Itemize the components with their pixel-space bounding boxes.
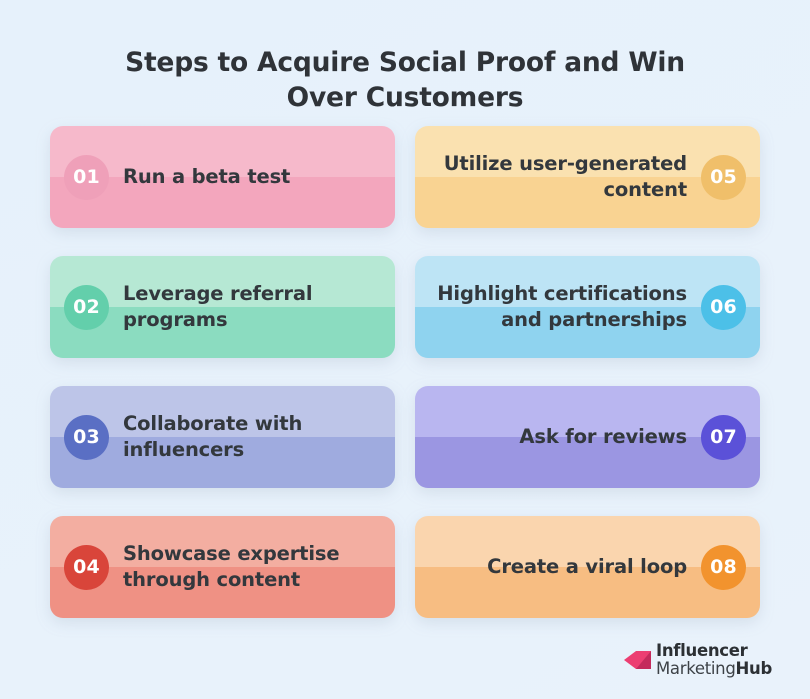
step-card-04[interactable]: 04 Showcase expertise through content [50,516,395,618]
brand-logo-hub: Hub [736,659,772,678]
step-label-07: Ask for reviews [519,424,687,450]
brand-logo-line-1: Influencer [656,642,772,659]
step-number-badge-06: 06 [701,285,746,330]
step-card-08[interactable]: Create a viral loop 08 [415,516,760,618]
step-number-badge-04: 04 [64,545,109,590]
brand-logo-line-2: MarketingHub [656,660,772,677]
step-label-02: Leverage referral programs [123,281,377,332]
step-label-06: Highlight certifications and partnership… [433,281,687,332]
step-number-badge-05: 05 [701,155,746,200]
step-label-08: Create a viral loop [487,554,687,580]
pink-arrow-mark-icon [622,645,652,675]
step-number-badge-01: 01 [64,155,109,200]
step-label-03: Collaborate with influencers [123,411,377,462]
infographic-poster: Steps to Acquire Social Proof and Win Ov… [0,0,810,699]
step-label-01: Run a beta test [123,164,290,190]
page-title: Steps to Acquire Social Proof and Win Ov… [95,45,715,116]
brand-logo-marketing: Marketing [656,659,736,678]
step-number-badge-03: 03 [64,415,109,460]
step-label-04: Showcase expertise through content [123,541,377,592]
steps-grid: 01 Run a beta test Utilize user-generate… [50,126,760,618]
step-card-03[interactable]: 03 Collaborate with influencers [50,386,395,488]
brand-logo[interactable]: Influencer MarketingHub [622,642,772,677]
page-title-line-2: Over Customers [95,80,715,116]
step-card-01[interactable]: 01 Run a beta test [50,126,395,228]
step-label-05: Utilize user-generated content [433,151,687,202]
step-number-badge-08: 08 [701,545,746,590]
step-card-05[interactable]: Utilize user-generated content 05 [415,126,760,228]
step-card-02[interactable]: 02 Leverage referral programs [50,256,395,358]
step-card-06[interactable]: Highlight certifications and partnership… [415,256,760,358]
brand-logo-text: Influencer MarketingHub [656,642,772,677]
step-card-07[interactable]: Ask for reviews 07 [415,386,760,488]
page-title-line-1: Steps to Acquire Social Proof and Win [95,45,715,81]
step-number-badge-02: 02 [64,285,109,330]
step-number-badge-07: 07 [701,415,746,460]
